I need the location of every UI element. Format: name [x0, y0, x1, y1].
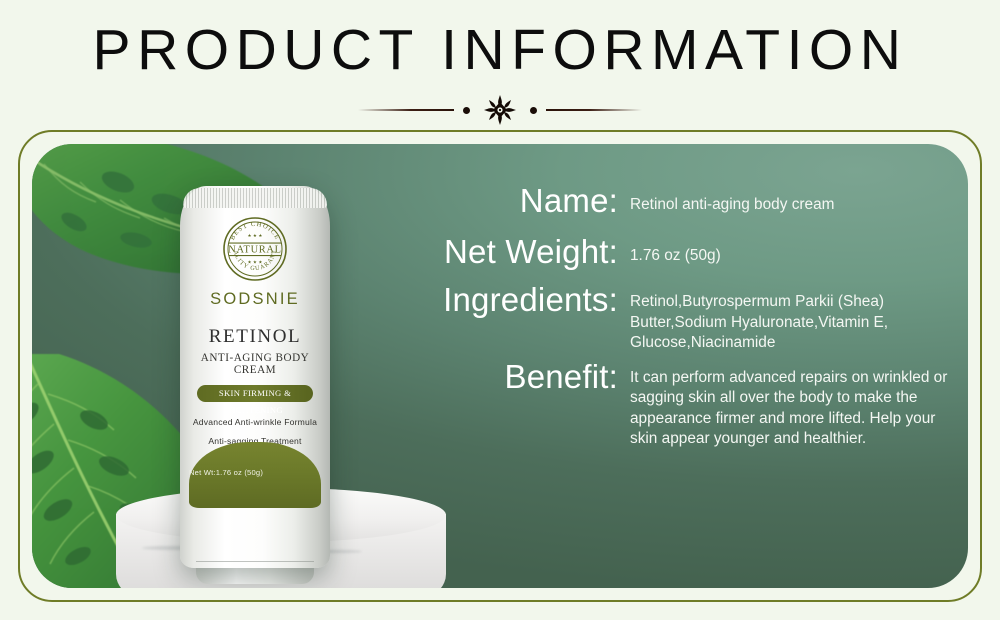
ornamental-divider — [0, 95, 1000, 125]
info-row-benefit: Benefit: It can perform advanced repairs… — [422, 360, 962, 450]
content-frame: BEST CHOICE QUALITY GUARANTEE ★ ★ ★ ★ ★ … — [18, 130, 982, 602]
info-value-net-weight: 1.76 oz (50g) — [630, 235, 962, 266]
product-info-list: Name: Retinol anti-aging body cream Net … — [422, 184, 962, 468]
info-value-name: Retinol anti-aging body cream — [630, 184, 962, 215]
svg-text:NATURAL: NATURAL — [228, 244, 281, 255]
tube-banner: SKIN FIRMING & TIGHTENING — [197, 385, 313, 402]
product-panel: BEST CHOICE QUALITY GUARANTEE ★ ★ ★ ★ ★ … — [32, 144, 968, 588]
info-row-net-weight: Net Weight: 1.76 oz (50g) — [422, 235, 962, 270]
info-value-benefit: It can perform advanced repairs on wrink… — [630, 360, 962, 450]
divider-dot-left — [463, 107, 470, 114]
floral-rosette-icon — [479, 95, 521, 125]
info-label-name: Name: — [422, 184, 630, 219]
page-header: PRODUCT INFORMATION — [0, 0, 1000, 128]
tube-base-band: Net Wt:1.76 oz (50g) — [189, 442, 321, 508]
svg-text:★ ★ ★: ★ ★ ★ — [248, 233, 264, 238]
info-label-ingredients: Ingredients: — [422, 283, 630, 318]
page-title: PRODUCT INFORMATION — [0, 22, 1000, 79]
tube-label: BEST CHOICE QUALITY GUARANTEE ★ ★ ★ ★ ★ … — [180, 186, 330, 568]
tube-product-subtitle: ANTI-AGING BODY CREAM — [180, 352, 330, 376]
info-label-net-weight: Net Weight: — [422, 235, 630, 270]
divider-rule-right — [546, 109, 642, 111]
product-tube: BEST CHOICE QUALITY GUARANTEE ★ ★ ★ ★ ★ … — [180, 186, 330, 568]
info-row-name: Name: Retinol anti-aging body cream — [422, 184, 962, 219]
info-label-benefit: Benefit: — [422, 360, 630, 395]
natural-seal-badge-icon: BEST CHOICE QUALITY GUARANTEE ★ ★ ★ ★ ★ … — [218, 212, 292, 286]
divider-rule-left — [358, 109, 454, 111]
tube-claim-1: Advanced Anti-wrinkle Formula — [180, 417, 330, 427]
divider-dot-right — [530, 107, 537, 114]
svg-text:★ ★ ★: ★ ★ ★ — [248, 260, 264, 265]
tube-brand: SODSNIE — [180, 290, 330, 309]
info-value-ingredients: Retinol,Butyrospermum Parkii (Shea) Butt… — [630, 283, 962, 353]
tube-net-weight: Net Wt:1.76 oz (50g) — [189, 468, 321, 477]
tube-product-name: RETINOL — [180, 326, 330, 348]
info-row-ingredients: Ingredients: Retinol,Butyrospermum Parki… — [422, 283, 962, 353]
